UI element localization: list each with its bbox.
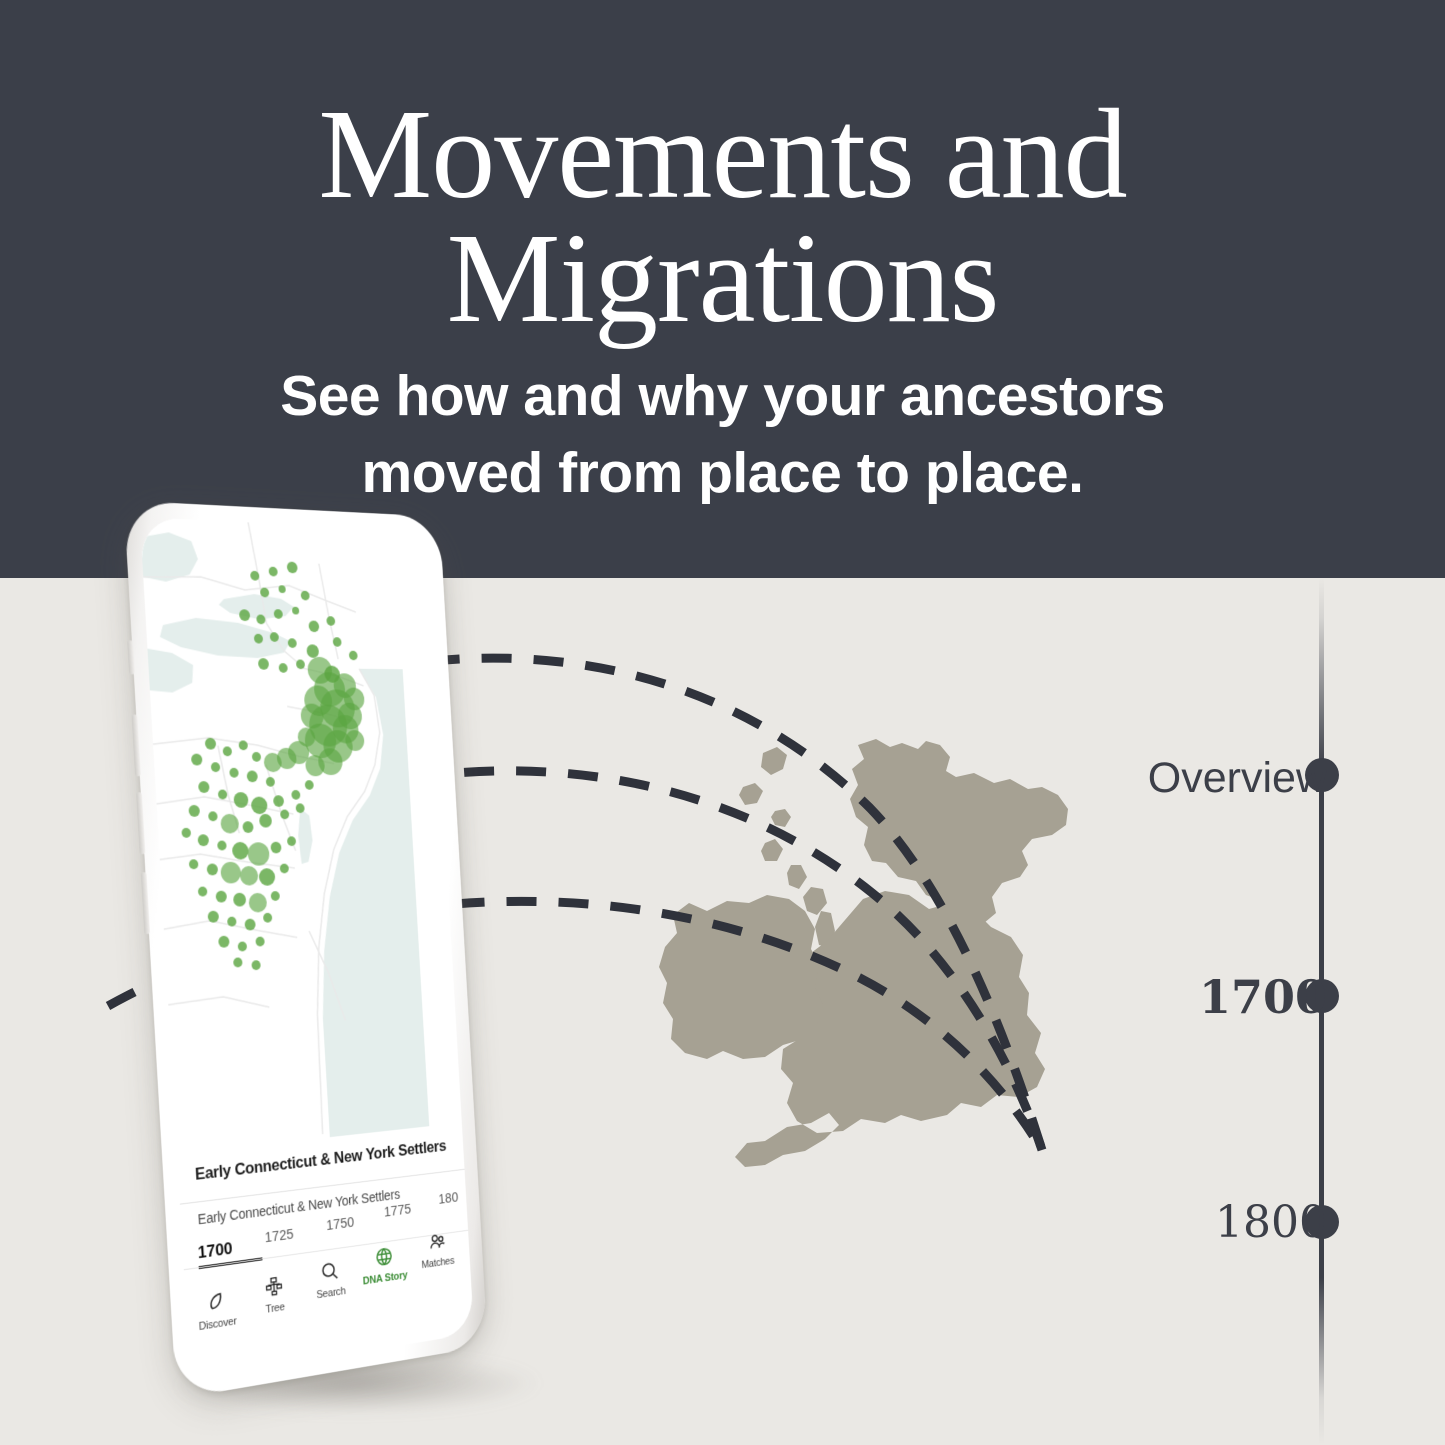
page-title-line1: Movements and: [0, 92, 1445, 216]
ireland-shape: [659, 895, 823, 1059]
leaf-icon: [187, 1285, 245, 1319]
tab-matches-label: Matches: [412, 1254, 463, 1273]
year-option-1725[interactable]: 1725: [264, 1227, 294, 1246]
phone-screen: Early Connecticut & New York Settlers Ea…: [140, 517, 474, 1380]
tab-search-label: Search: [304, 1284, 358, 1304]
page-title-line2: Migrations: [0, 216, 1445, 340]
islay-shape: [761, 839, 783, 861]
search-icon: [302, 1255, 357, 1288]
tab-tree[interactable]: Tree: [245, 1270, 303, 1319]
hebrides-shape-2: [739, 783, 763, 805]
timeline: Overview 1700 1800: [1245, 578, 1445, 1445]
timeline-label-1800[interactable]: 1800: [1215, 1197, 1327, 1248]
settler-density-map[interactable]: [140, 517, 462, 1154]
header-banner: Movements and Migrations See how and why…: [0, 0, 1445, 578]
poster-canvas: Movements and Migrations See how and why…: [0, 0, 1445, 1445]
page-subtitle: See how and why your ancestors moved fro…: [150, 358, 1295, 512]
year-option-1775[interactable]: 1775: [384, 1202, 412, 1221]
timeline-label-1700[interactable]: 1700: [1199, 970, 1327, 1024]
hebrides-shape-3: [771, 809, 791, 827]
phone-mockup: Early Connecticut & New York Settlers Ea…: [150, 500, 570, 1440]
british-isles-map: [615, 715, 1155, 1295]
tab-dna-story[interactable]: DNA Story: [357, 1241, 412, 1288]
year-option-1700[interactable]: 1700: [197, 1239, 233, 1263]
mull-shape: [803, 887, 827, 915]
year-option-1750[interactable]: 1750: [326, 1215, 355, 1234]
arran-shape: [787, 865, 807, 889]
page-subtitle-line1: See how and why your ancestors: [150, 358, 1295, 435]
timeline-label-overview[interactable]: Overview: [1148, 754, 1327, 803]
british-isles-svg: [615, 715, 1155, 1295]
year-option-1800[interactable]: 180: [438, 1190, 459, 1207]
tab-dna-story-label: DNA Story: [359, 1269, 412, 1288]
settler-density-map-svg: [140, 517, 462, 1154]
tab-search[interactable]: Search: [302, 1255, 358, 1303]
tab-matches[interactable]: Matches: [411, 1226, 464, 1272]
hebrides-shape: [761, 747, 787, 775]
phone-device: Early Connecticut & New York Settlers Ea…: [124, 501, 488, 1399]
page-title: Movements and Migrations: [0, 92, 1445, 340]
tab-discover[interactable]: Discover: [187, 1285, 246, 1335]
tree-icon: [245, 1270, 302, 1303]
